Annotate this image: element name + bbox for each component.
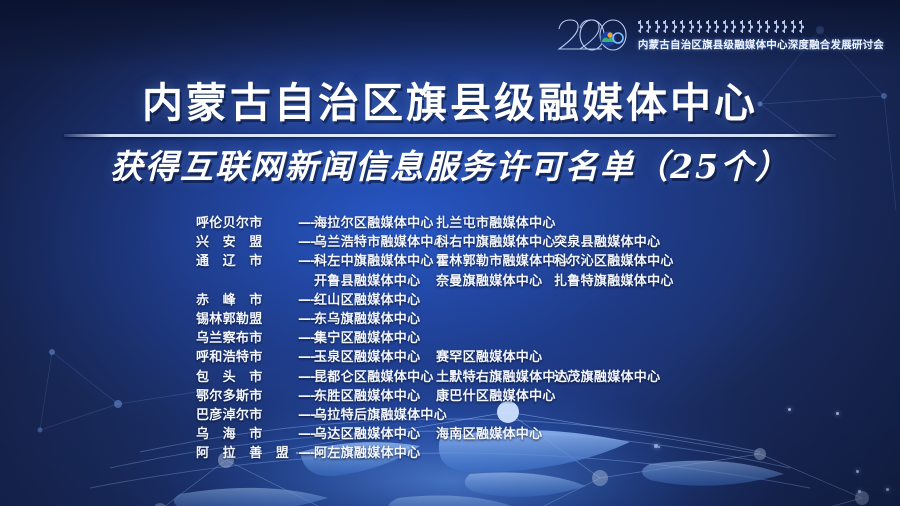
row-region-label: 赤 峰 市 [196,289,298,308]
row-region-label: 通 辽 市 [196,250,298,269]
media-center-name: 红山区融媒体中心 [314,289,436,308]
row-region-label: 乌兰察布市 [196,327,298,346]
media-center-name: 乌兰浩特市融媒体中心 [314,231,436,250]
row-dash: —— [298,427,314,442]
row-dash: —— [298,312,314,327]
row-dash: —— [298,254,314,269]
media-center-name: 科左中旗融媒体中心 [314,250,436,269]
media-center-name: 突泉县融媒体中心 [554,231,674,250]
media-center-name: 阿左旗融媒体中心 [314,442,436,461]
media-center-name: 扎鲁特旗融媒体中心 [554,270,674,289]
title-divider [64,134,836,137]
row-region-label: 鄂尔多斯市 [196,385,298,404]
media-center-name: 东胜区融媒体中心 [314,385,436,404]
media-center-list: 呼伦贝尔市——海拉尔区融媒体中心扎兰屯市融媒体中心兴 安 盟——乌兰浩特市融媒体… [196,212,836,461]
list-row: 兴 安 盟——乌兰浩特市融媒体中心科右中旗融媒体中心突泉县融媒体中心 [196,231,836,250]
media-center-name: 集宁区融媒体中心 [314,327,436,346]
list-row: 锡林郭勒盟——东乌旗融媒体中心 [196,308,836,327]
media-center-name: 海拉尔区融媒体中心 [314,212,436,231]
slide-root: 内蒙古自治区旗县级融媒体中心深度融合发展研讨会 内蒙古自治区旗县级融媒体中心 获… [0,0,900,506]
list-row: 阿 拉 善 盟——阿左旗融媒体中心 [196,442,836,461]
media-center-name: 乌达区融媒体中心 [314,423,436,442]
list-row: 巴彦淖尔市——乌拉特后旗融媒体中心 [196,404,836,423]
row-dash: —— [298,370,314,385]
logo-2020-icon [555,15,631,55]
list-row: 通 辽 市——科左中旗融媒体中心霍林郭勒市融媒体中心科尔沁区融媒体中心 [196,250,836,269]
media-center-name: 康巴什区融媒体中心 [436,385,554,404]
list-row: 乌 海 市——乌达区融媒体中心海南区融媒体中心 [196,423,836,442]
media-center-name: 赛罕区融媒体中心 [436,346,554,365]
media-center-name: 土默特右旗融媒体中心 [436,366,554,385]
media-center-name: 乌拉特后旗融媒体中心 [314,404,436,423]
media-center-name: 科右中旗融媒体中心 [436,231,554,250]
media-center-name: 达茂旗融媒体中心 [554,366,674,385]
list-row: 包 头 市——昆都仑区融媒体中心土默特右旗融媒体中心达茂旗融媒体中心 [196,366,836,385]
title-block: 内蒙古自治区旗县级融媒体中心 获得互联网新闻信息服务许可名单（25个） [0,78,900,188]
row-region-label: 乌 海 市 [196,423,298,442]
media-center-name: 昆都仑区融媒体中心 [314,366,436,385]
row-dash: —— [298,216,314,231]
conference-title-text: 内蒙古自治区旗县级融媒体中心深度融合发展研讨会 [638,37,884,52]
row-region-label: 巴彦淖尔市 [196,404,298,423]
list-row: 呼和浩特市——玉泉区融媒体中心赛罕区融媒体中心 [196,346,836,365]
list-row: 呼伦贝尔市——海拉尔区融媒体中心扎兰屯市融媒体中心 [196,212,836,231]
mongolian-script-text [638,19,884,36]
media-center-name: 扎兰屯市融媒体中心 [436,212,554,231]
media-center-name: 开鲁县融媒体中心 [314,270,436,289]
row-region-label: 阿 拉 善 盟 [196,442,298,461]
page-title: 内蒙古自治区旗县级融媒体中心 [0,78,900,128]
row-dash: —— [298,331,314,346]
row-dash: —— [298,446,314,461]
row-region-label: 锡林郭勒盟 [196,308,298,327]
conference-logo-lockup: 内蒙古自治区旗县级融媒体中心深度融合发展研讨会 [555,12,884,58]
row-region-label: 呼和浩特市 [196,346,298,365]
list-row: ——开鲁县融媒体中心奈曼旗融媒体中心扎鲁特旗融媒体中心 [196,270,836,289]
row-region-label: 兴 安 盟 [196,231,298,250]
row-dash: —— [298,389,314,404]
row-region-label: 包 头 市 [196,366,298,385]
media-center-name: 科尔沁区融媒体中心 [554,250,674,269]
list-row: 乌兰察布市——集宁区融媒体中心 [196,327,836,346]
cloud-landscape-icon [600,32,623,47]
page-subtitle: 获得互联网新闻信息服务许可名单（25个） [0,146,900,188]
row-dash: —— [298,235,314,250]
row-region-label: 呼伦贝尔市 [196,212,298,231]
media-center-name: 霍林郭勒市融媒体中心 [436,250,554,269]
list-row: 鄂尔多斯市——东胜区融媒体中心康巴什区融媒体中心 [196,385,836,404]
row-dash: —— [298,350,314,365]
media-center-name: 奈曼旗融媒体中心 [436,270,554,289]
media-center-name: 海南区融媒体中心 [436,423,554,442]
media-center-name: 东乌旗融媒体中心 [314,308,436,327]
row-dash: —— [298,408,314,423]
list-row: 赤 峰 市——红山区融媒体中心 [196,289,836,308]
row-dash: —— [298,293,314,308]
media-center-name: 玉泉区融媒体中心 [314,346,436,365]
